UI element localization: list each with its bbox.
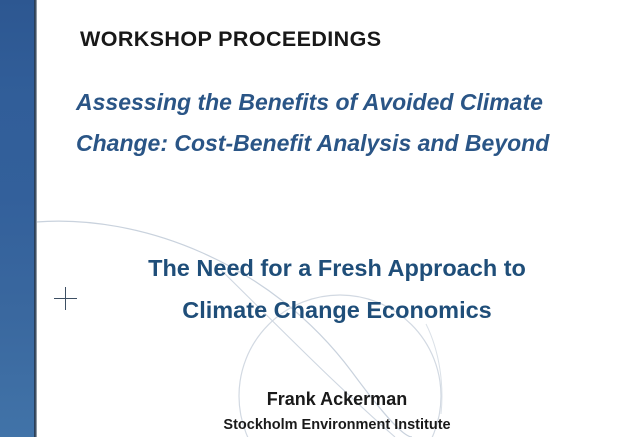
left-accent-band-edge [34,0,37,437]
presentation-title: The Need for a Fresh Approach to Climate… [37,247,637,331]
slide-canvas: WORKSHOP PROCEEDINGS Assessing the Benef… [0,0,640,437]
presenter-affiliation: Stockholm Environment Institute [37,417,637,433]
background-decoration [0,0,640,437]
left-accent-band [0,0,34,437]
event-subtitle: Assessing the Benefits of Avoided Climat… [76,82,621,164]
kicker-heading: WORKSHOP PROCEEDINGS [80,27,381,52]
presentation-title-line-2: Climate Change Economics [37,289,637,331]
event-subtitle-line-2: Change: Cost-Benefit Analysis and Beyond [76,123,621,164]
presentation-title-line-1: The Need for a Fresh Approach to [37,247,637,289]
event-subtitle-line-1: Assessing the Benefits of Avoided Climat… [76,82,621,123]
presenter-name: Frank Ackerman [37,389,637,410]
